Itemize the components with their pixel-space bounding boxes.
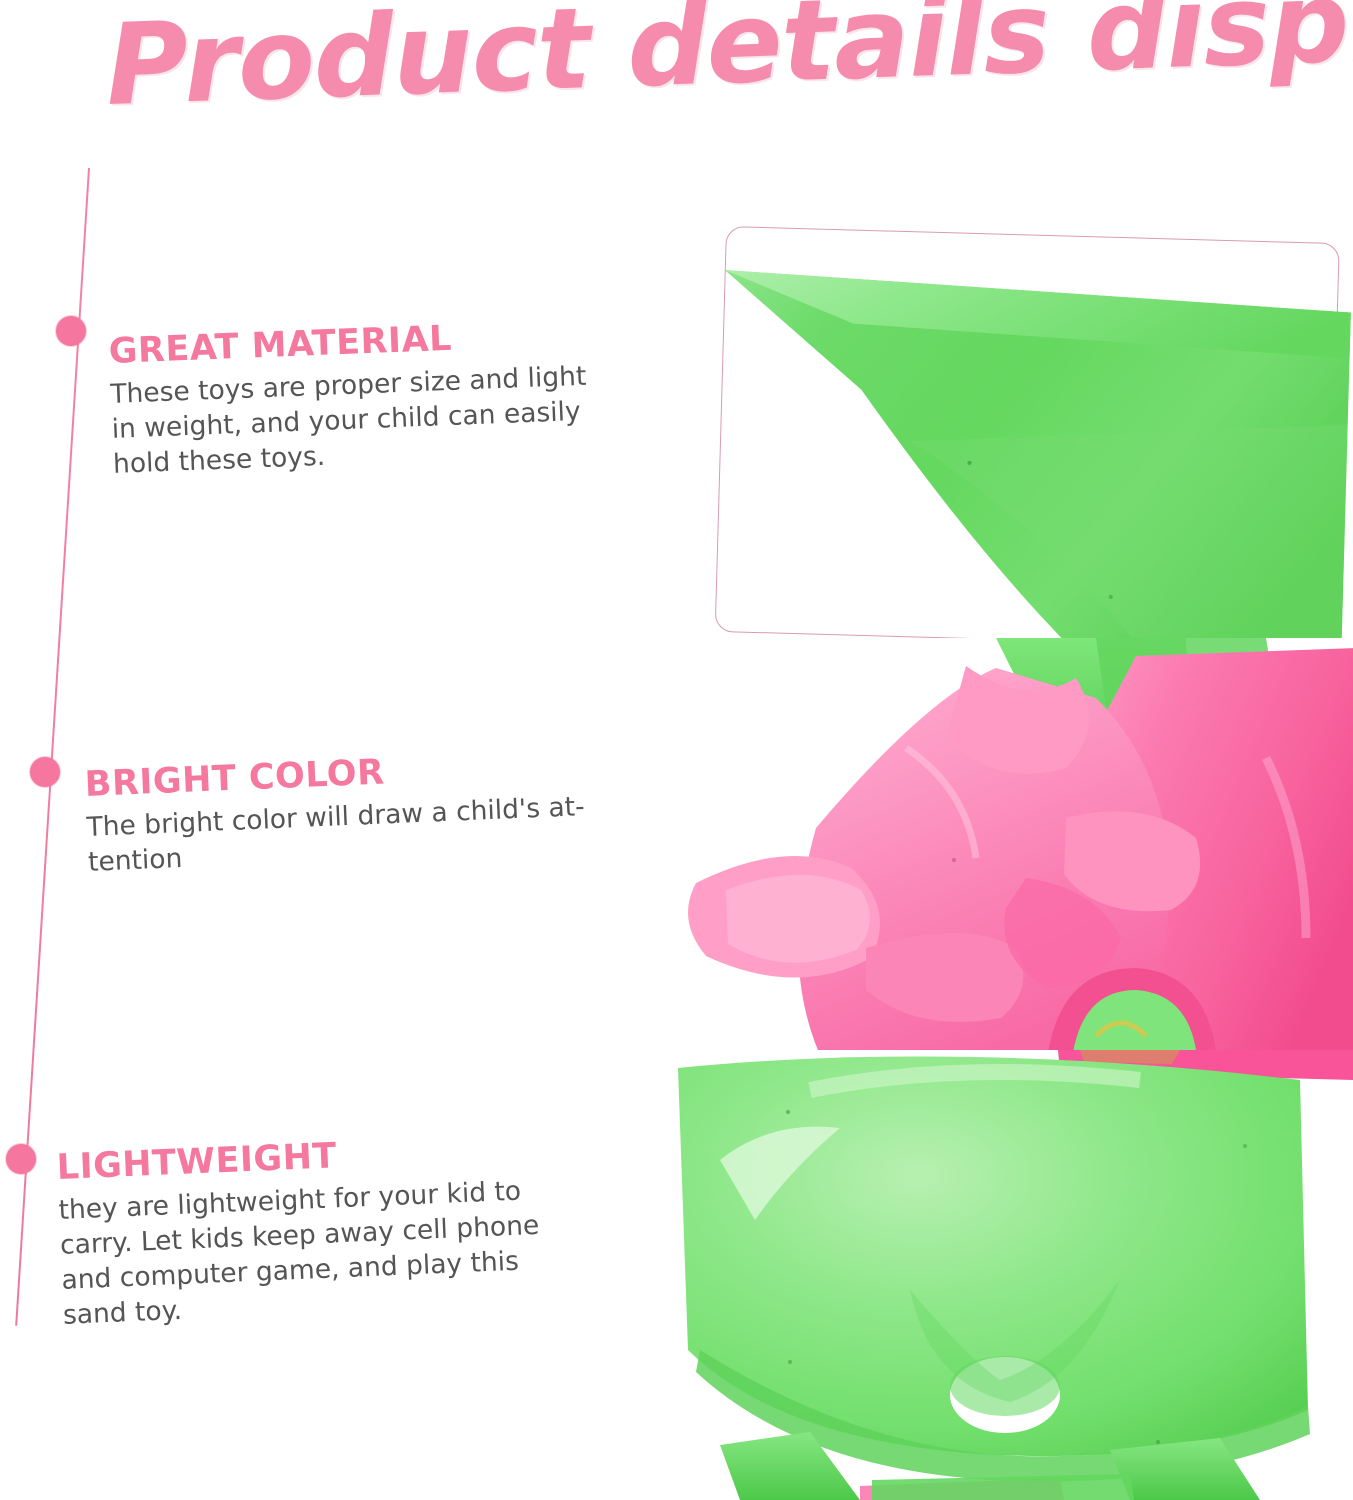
- product-details-page: Product details display GREAT MATERIAL T…: [0, 0, 1353, 1500]
- page-title-wrapper: Product details display: [104, 0, 1339, 168]
- photo-green-bowl: [660, 1050, 1353, 1500]
- photo-pink-waterwheel: [666, 638, 1353, 1068]
- feature-body-great-material: These toys are proper size and light in …: [110, 359, 614, 483]
- green-funnel-image: [714, 256, 1353, 674]
- page-title: Product details display: [104, 0, 1337, 126]
- timeline-dot-lightweight: [6, 1144, 36, 1174]
- feature-great-material: GREAT MATERIAL These toys are proper siz…: [108, 311, 673, 483]
- photo-green-funnel-closeup: [714, 226, 1353, 673]
- feature-lightweight: LIGHTWEIGHT they are lightweight for you…: [56, 1125, 623, 1334]
- feature-body-bright-color: The bright color will draw a child's at-…: [86, 789, 608, 881]
- timeline-dot-bright-color: [30, 757, 60, 787]
- feature-body-lightweight: they are lightweight for your kid to car…: [58, 1174, 543, 1334]
- pink-waterwheel-image: [666, 638, 1353, 1068]
- feature-bright-color: BRIGHT COLOR The bright color will draw …: [84, 742, 648, 881]
- green-bowl-image: [660, 1050, 1353, 1500]
- timeline-dot-great-material: [56, 316, 86, 346]
